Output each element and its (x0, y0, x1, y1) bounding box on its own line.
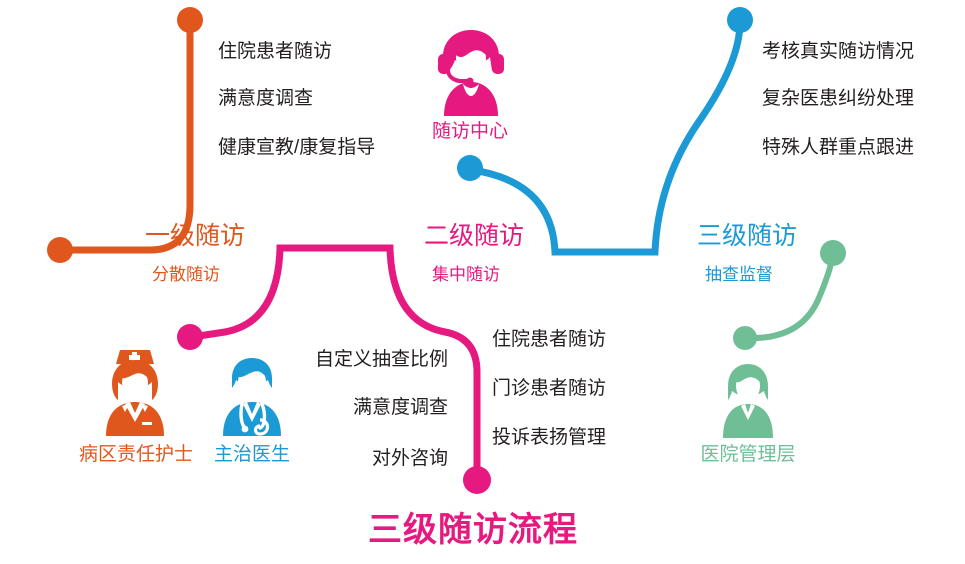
level-3-title: 三级随访 (697, 224, 797, 249)
page-title: 三级随访流程 (368, 513, 578, 547)
level-1-subtitle: 分散随访 (152, 266, 220, 283)
headset-operator-icon (432, 24, 510, 116)
followup-center-label: 随访中心 (400, 122, 540, 141)
level2-left-task-2: 满意度调查 (300, 398, 448, 417)
green-dot-top (820, 240, 846, 266)
level2-left-task-1: 自定义抽查比例 (300, 350, 448, 369)
blue-dot-top (727, 7, 753, 33)
level1-task-2: 满意度调查 (218, 89, 313, 108)
level-2-subtitle: 集中随访 (432, 266, 500, 283)
level3-task-3: 特殊人群重点跟进 (762, 138, 914, 157)
orange-connector-path (62, 22, 190, 250)
flowchart-canvas: 住院患者随访 满意度调查 健康宣教/康复指导 考核真实随访情况 复杂医患纠纷处理… (0, 0, 965, 564)
level2-right-task-2: 门诊患者随访 (492, 379, 606, 398)
level2-right-task-3: 投诉表扬管理 (492, 428, 606, 447)
nurse-icon (98, 348, 172, 436)
orange-dot-top (177, 7, 203, 33)
doctor-icon (214, 356, 290, 436)
level-3-subtitle: 抽查监督 (705, 266, 773, 283)
manager-person-icon (715, 362, 781, 438)
level1-task-1: 住院患者随访 (218, 42, 332, 61)
level3-task-2: 复杂医患纠纷处理 (762, 89, 914, 108)
blue-dot-left (457, 155, 483, 181)
level2-right-task-1: 住院患者随访 (492, 330, 606, 349)
level1-task-3: 健康宣教/康复指导 (218, 138, 375, 157)
green-dot-bottom (733, 326, 757, 350)
level2-left-task-3: 对外咨询 (300, 449, 448, 468)
level-2-title: 二级随访 (424, 224, 524, 249)
attending-doctor-label: 主治医生 (200, 445, 304, 464)
ward-nurse-label: 病区责任护士 (66, 445, 206, 464)
level-1-title: 一级随访 (145, 224, 245, 249)
magenta-dot-left (177, 324, 203, 350)
level3-task-1: 考核真实随访情况 (762, 42, 914, 61)
orange-dot-left (47, 237, 73, 263)
magenta-dot-bottom (463, 466, 491, 494)
hospital-management-label: 医院管理层 (690, 445, 806, 464)
